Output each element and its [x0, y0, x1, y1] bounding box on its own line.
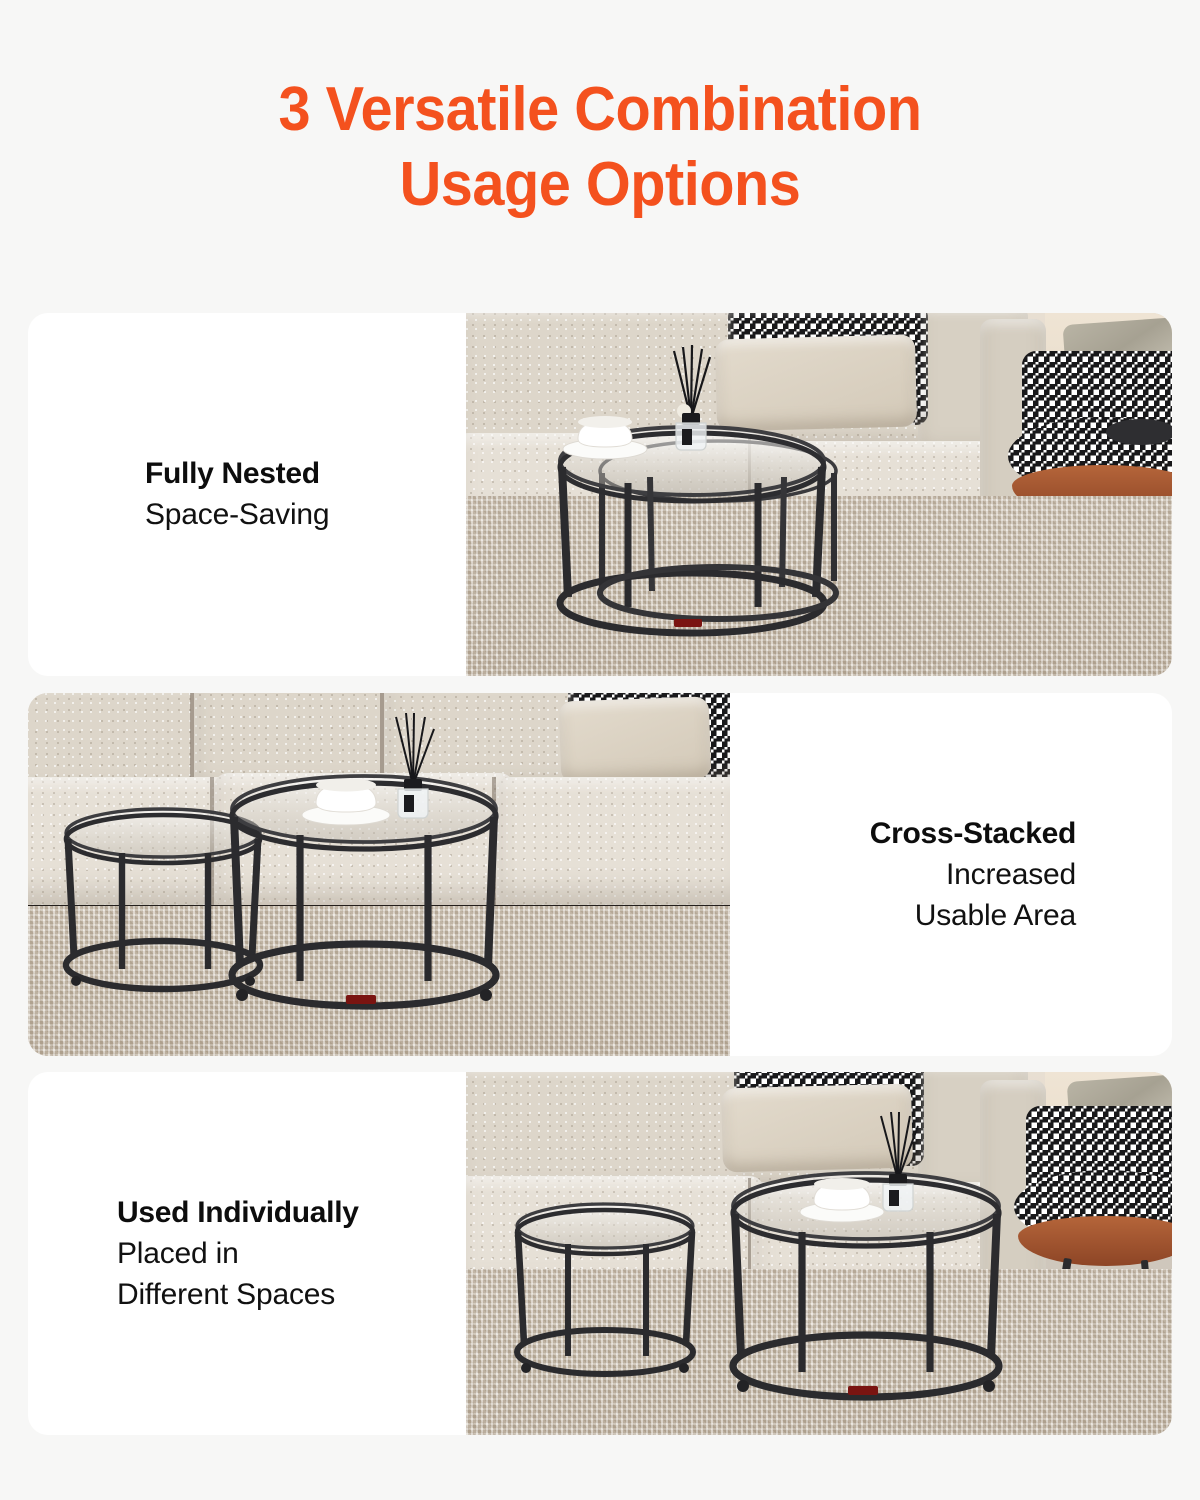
- page-title: 3 Versatile Combination Usage Options: [42, 72, 1158, 222]
- small-nesting-table: [502, 1200, 708, 1390]
- caption-title: Fully Nested: [145, 454, 320, 494]
- caption-line: Space-Saving: [145, 494, 329, 535]
- feature-card-used-individually: Used Individually Placed in Different Sp…: [28, 1072, 1172, 1435]
- caption-line: Usable Area: [915, 895, 1076, 936]
- photo-used-individually: [466, 1072, 1172, 1435]
- photo-fully-nested: [466, 313, 1172, 676]
- caption-title: Used Individually: [117, 1193, 359, 1233]
- infographic-page: 3 Versatile Combination Usage Options Fu…: [0, 0, 1200, 1500]
- page-title-line-1: 3 Versatile Combination: [279, 75, 922, 144]
- caption-block-cross-stacked: Cross-Stacked Increased Usable Area: [730, 693, 1172, 1056]
- caption-block-fully-nested: Fully Nested Space-Saving: [28, 313, 466, 676]
- caption-block-used-individually: Used Individually Placed in Different Sp…: [28, 1072, 466, 1435]
- reed-diffuser: [656, 345, 726, 457]
- feature-card-fully-nested: Fully Nested Space-Saving: [28, 313, 1172, 676]
- reed-diffuser: [866, 1112, 930, 1216]
- caption-line: Placed in: [117, 1233, 239, 1274]
- cup-and-saucer: [560, 413, 650, 461]
- caption-title: Cross-Stacked: [870, 814, 1076, 854]
- page-title-line-2: Usage Options: [42, 147, 1158, 222]
- photo-cross-stacked: [28, 693, 730, 1056]
- feature-card-cross-stacked: Cross-Stacked Increased Usable Area: [28, 693, 1172, 1056]
- reed-diffuser: [380, 713, 446, 825]
- caption-line: Different Spaces: [117, 1274, 335, 1315]
- caption-line: Increased: [946, 854, 1076, 895]
